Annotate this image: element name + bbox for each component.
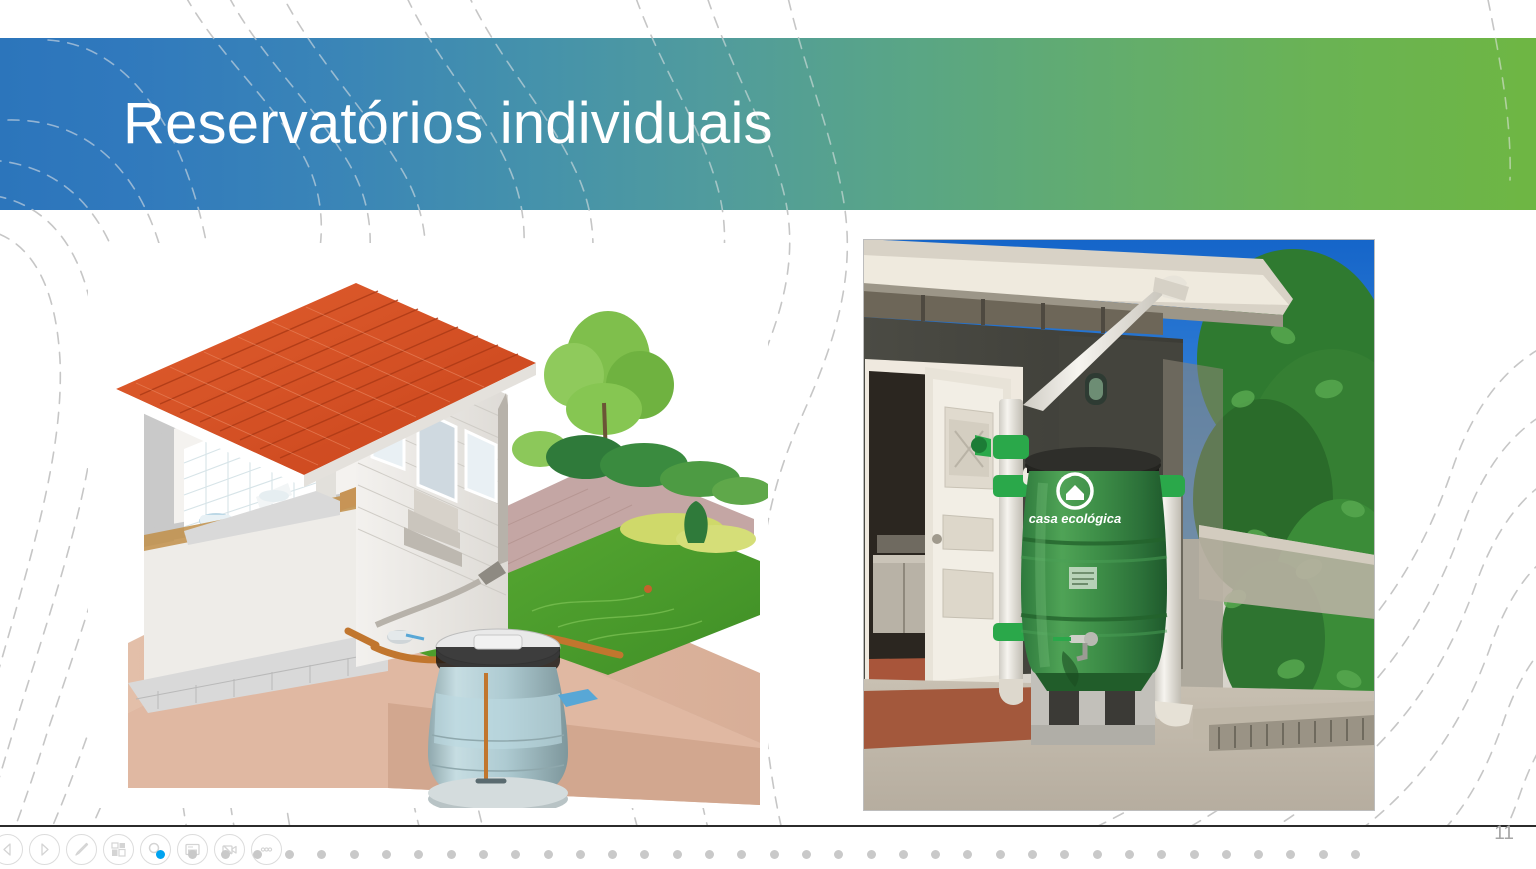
progress-dot[interactable] (867, 850, 876, 859)
figure-rain-barrel-photo: casa ecológica (863, 239, 1375, 811)
next-slide-button[interactable] (29, 834, 60, 865)
progress-dot[interactable] (1254, 850, 1263, 859)
progress-dot[interactable] (253, 850, 262, 859)
progress-dot[interactable] (737, 850, 746, 859)
pen-icon (73, 841, 90, 858)
progress-dot[interactable] (1028, 850, 1037, 859)
progress-dot[interactable] (317, 850, 326, 859)
progress-dot[interactable] (156, 850, 165, 859)
triangle-right-icon (37, 842, 52, 857)
progress-dot[interactable] (963, 850, 972, 859)
progress-dot[interactable] (640, 850, 649, 859)
previous-slide-button[interactable] (0, 834, 23, 865)
progress-dot[interactable] (1190, 850, 1199, 859)
progress-dot[interactable] (511, 850, 520, 859)
progress-dot[interactable] (188, 850, 197, 859)
grid-slides-icon (110, 841, 127, 858)
progress-dot[interactable] (414, 850, 423, 859)
progress-dot[interactable] (285, 850, 294, 859)
progress-dot[interactable] (350, 850, 359, 859)
slide-overview-button[interactable] (103, 834, 134, 865)
progress-dot[interactable] (1157, 850, 1166, 859)
progress-dot[interactable] (770, 850, 779, 859)
progress-dot[interactable] (221, 850, 230, 859)
pen-tool-button[interactable] (66, 834, 97, 865)
progress-dot[interactable] (1222, 850, 1231, 859)
page-number: 11 (1494, 823, 1514, 845)
figure-underground-cistern-cutaway (88, 243, 768, 808)
progress-dot[interactable] (931, 850, 940, 859)
rain-barrel-photograph: casa ecológica (863, 239, 1375, 811)
progress-dot[interactable] (1286, 850, 1295, 859)
presentation-slide: Reservatórios individuais (0, 0, 1536, 869)
progress-dot[interactable] (899, 850, 908, 859)
progress-dot[interactable] (705, 850, 714, 859)
progress-dot[interactable] (673, 850, 682, 859)
barrel-brand-label: casa ecológica (1029, 511, 1122, 526)
presentation-bottom-bar: 11 (0, 825, 1536, 869)
progress-dot[interactable] (834, 850, 843, 859)
progress-dot[interactable] (1060, 850, 1069, 859)
progress-dot[interactable] (576, 850, 585, 859)
progress-dot[interactable] (479, 850, 488, 859)
progress-dot[interactable] (608, 850, 617, 859)
underground-cistern-illustration (88, 243, 768, 808)
slide-header-band: Reservatórios individuais (0, 38, 1536, 210)
progress-dot[interactable] (1125, 850, 1134, 859)
progress-dot[interactable] (544, 850, 553, 859)
triangle-left-icon (0, 842, 15, 857)
slide-progress-dots[interactable] (156, 846, 1386, 862)
progress-dot[interactable] (447, 850, 456, 859)
progress-dot[interactable] (802, 850, 811, 859)
progress-dot[interactable] (1319, 850, 1328, 859)
progress-dot[interactable] (996, 850, 1005, 859)
progress-dot[interactable] (1093, 850, 1102, 859)
page-title: Reservatórios individuais (123, 92, 773, 156)
progress-dot[interactable] (382, 850, 391, 859)
progress-dot[interactable] (1351, 850, 1360, 859)
